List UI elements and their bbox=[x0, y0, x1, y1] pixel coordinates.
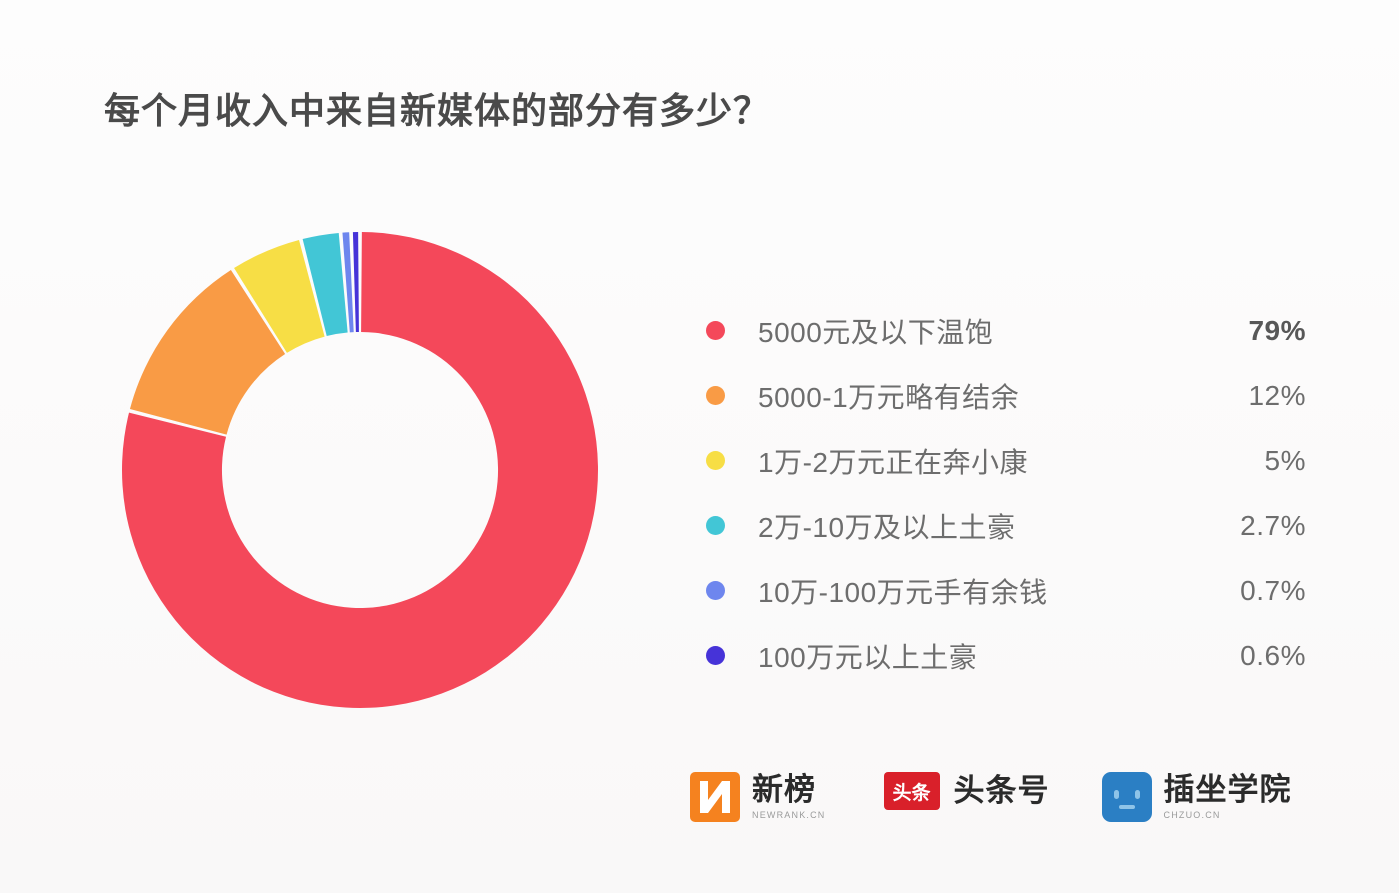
legend-swatch-icon bbox=[706, 516, 725, 535]
chazuo-eye-right-icon bbox=[1135, 790, 1140, 799]
chazuo-mouth-icon bbox=[1119, 805, 1135, 809]
page-title: 每个月收入中来自新媒体的部分有多少？ bbox=[104, 82, 770, 134]
legend-item-0[interactable]: 5000元及以下温饱79% bbox=[706, 298, 1306, 363]
logo-toutiao: 头条 头条号 bbox=[884, 772, 1050, 810]
legend-item-5[interactable]: 100万元以上土豪0.6% bbox=[706, 623, 1306, 688]
legend-item-label: 10万-100万元手有余钱 bbox=[758, 571, 1186, 611]
legend-swatch-icon bbox=[706, 451, 725, 470]
logo-toutiao-cn: 头条号 bbox=[954, 775, 1050, 808]
legend-item-value: 79% bbox=[1186, 315, 1306, 347]
legend-item-3[interactable]: 2万-10万及以上土豪2.7% bbox=[706, 493, 1306, 558]
legend-item-1[interactable]: 5000-1万元略有结余12% bbox=[706, 363, 1306, 428]
chazuo-eye-left-icon bbox=[1114, 790, 1119, 799]
logo-chazuo-cn: 插坐学院 bbox=[1164, 774, 1292, 807]
chazuo-mark-icon bbox=[1102, 772, 1152, 822]
legend-item-label: 2万-10万及以上土豪 bbox=[758, 506, 1186, 546]
logo-newrank-en: NEWRANK.CN bbox=[752, 810, 826, 820]
donut-slice-group bbox=[122, 232, 598, 708]
chart-legend: 5000元及以下温饱79%5000-1万元略有结余12%1万-2万元正在奔小康5… bbox=[706, 298, 1306, 688]
legend-swatch-icon bbox=[706, 386, 725, 405]
legend-item-value: 0.7% bbox=[1186, 575, 1306, 607]
legend-item-label: 5000-1万元略有结余 bbox=[758, 376, 1186, 416]
newrank-mark-icon bbox=[690, 772, 740, 822]
newrank-n-glyph-icon bbox=[699, 780, 731, 814]
donut-slice-5[interactable] bbox=[353, 232, 359, 332]
logo-newrank-cn: 新榜 bbox=[752, 774, 826, 807]
legend-item-value: 0.6% bbox=[1186, 640, 1306, 672]
toutiao-mark-icon: 头条 bbox=[884, 772, 940, 810]
donut-chart-svg bbox=[118, 228, 602, 712]
legend-item-label: 5000元及以下温饱 bbox=[758, 311, 1186, 351]
legend-swatch-icon bbox=[706, 646, 725, 665]
logo-chazuo-en: CHZUO.CN bbox=[1164, 810, 1292, 820]
logo-chazuo: 插坐学院 CHZUO.CN bbox=[1102, 772, 1292, 822]
legend-item-label: 1万-2万元正在奔小康 bbox=[758, 441, 1186, 481]
legend-item-4[interactable]: 10万-100万元手有余钱0.7% bbox=[706, 558, 1306, 623]
footer-logo-bar: 新榜 NEWRANK.CN 头条 头条号 插坐学院 CHZUO.CN bbox=[690, 772, 1292, 822]
legend-item-label: 100万元以上土豪 bbox=[758, 636, 1186, 676]
legend-item-value: 12% bbox=[1186, 380, 1306, 412]
legend-item-2[interactable]: 1万-2万元正在奔小康5% bbox=[706, 428, 1306, 493]
legend-item-value: 5% bbox=[1186, 445, 1306, 477]
logo-newrank: 新榜 NEWRANK.CN bbox=[690, 772, 826, 822]
legend-swatch-icon bbox=[706, 321, 725, 340]
legend-item-value: 2.7% bbox=[1186, 510, 1306, 542]
donut-chart bbox=[118, 228, 602, 712]
slide-canvas: 每个月收入中来自新媒体的部分有多少？ 5000元及以下温饱79%5000-1万元… bbox=[0, 0, 1399, 893]
legend-swatch-icon bbox=[706, 581, 725, 600]
